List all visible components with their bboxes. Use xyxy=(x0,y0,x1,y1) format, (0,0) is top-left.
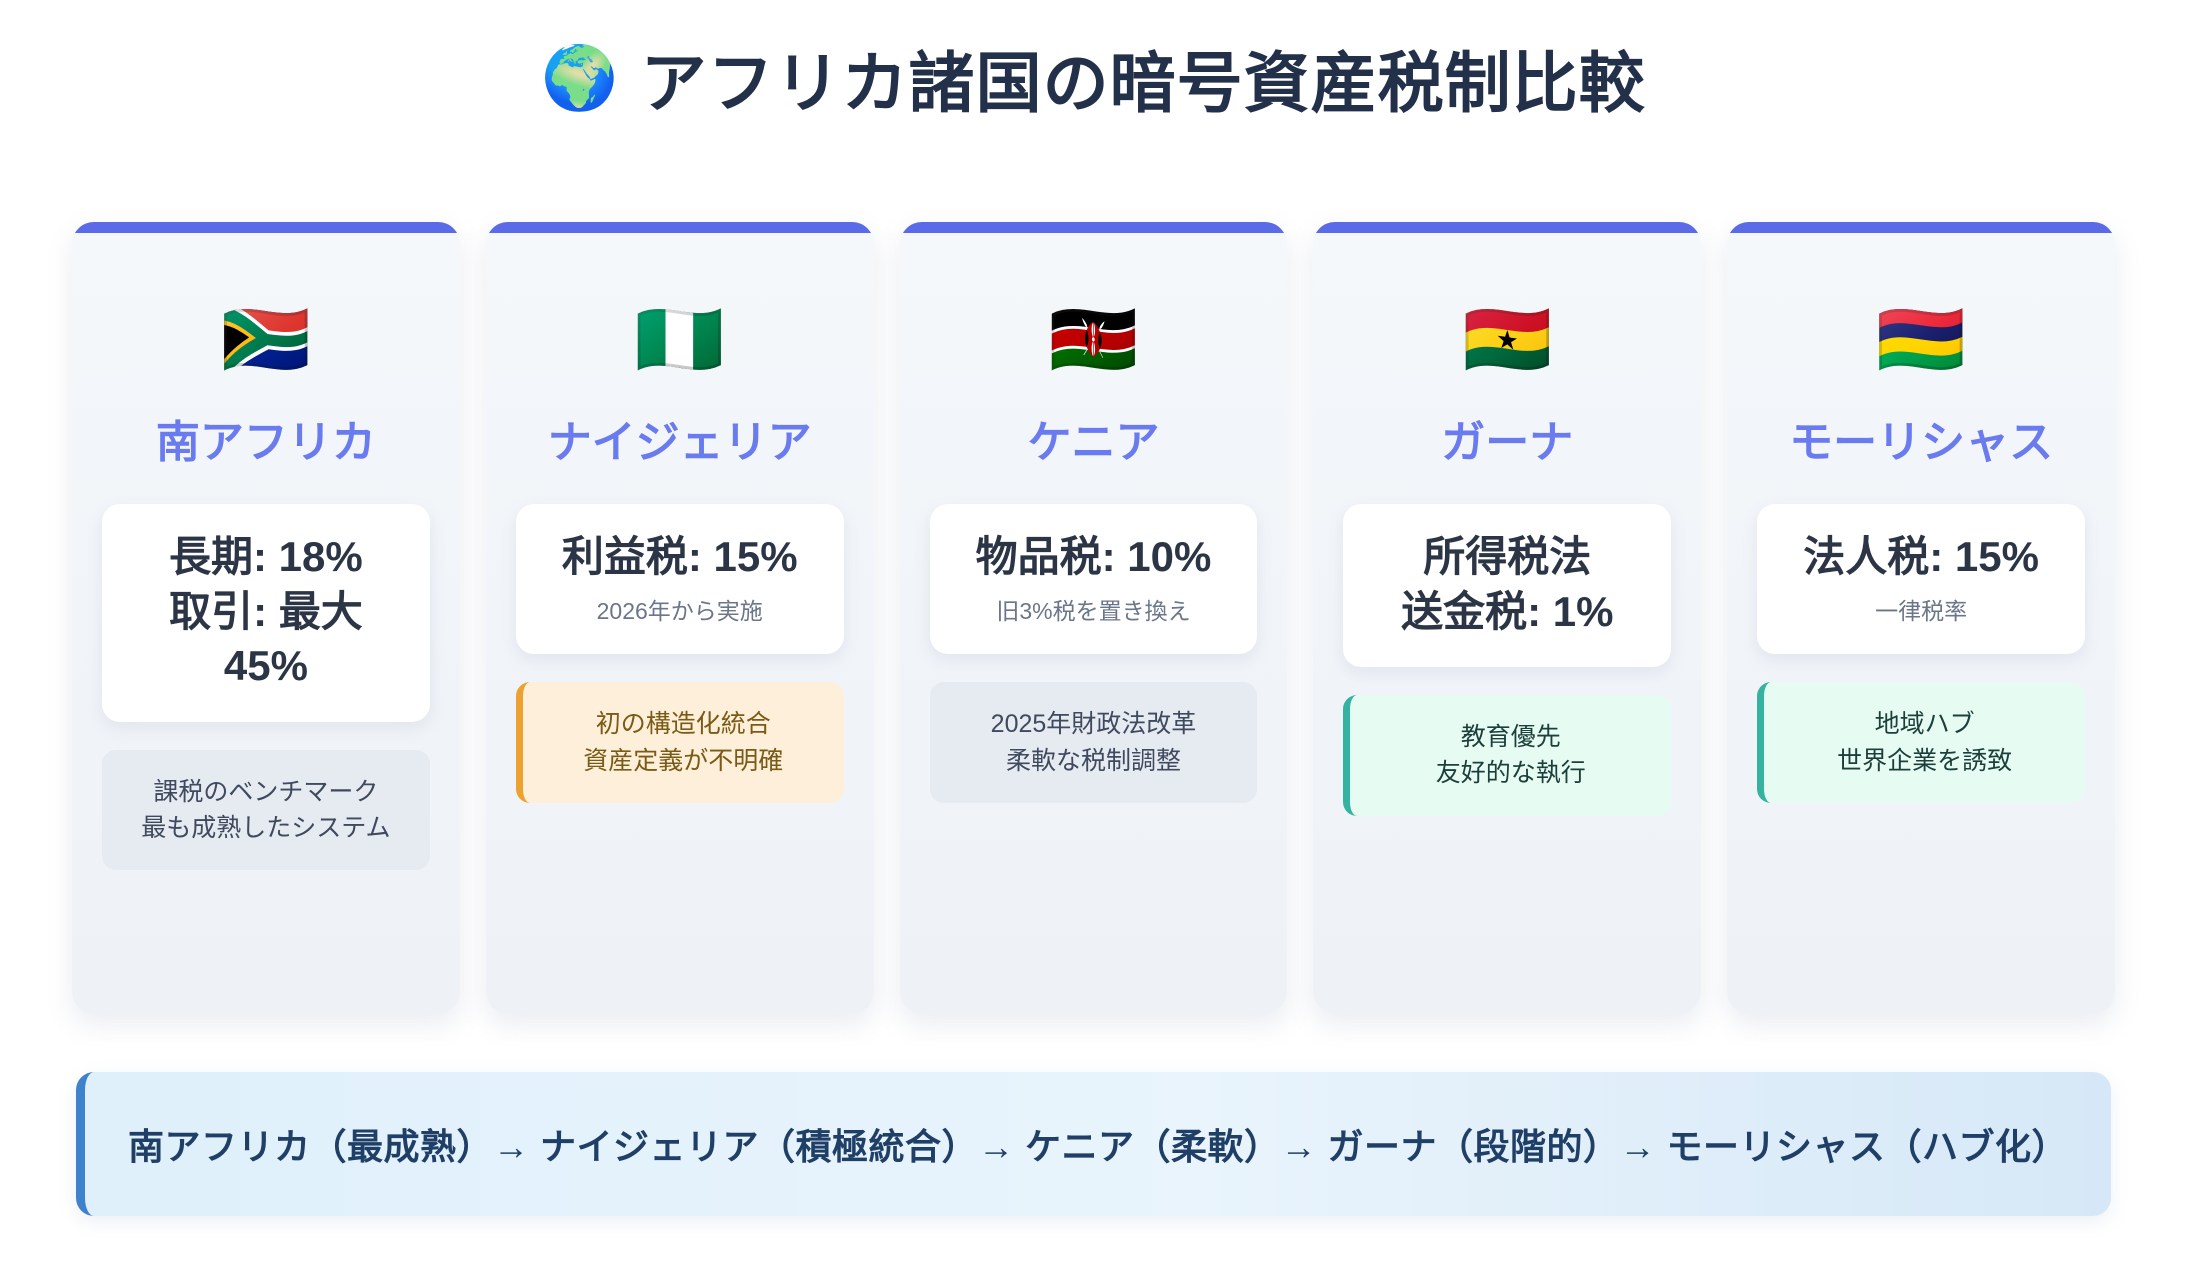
country-note: 教育優先友好的な執行 xyxy=(1343,695,1671,816)
country-name: モーリシャス xyxy=(1789,406,2053,470)
card-accent-bar xyxy=(1313,222,1701,233)
country-note-line: 最も成熟したシステム xyxy=(114,810,418,846)
country-note-line: 教育優先 xyxy=(1362,719,1659,755)
tax-rate-box: 法人税: 15%一律税率 xyxy=(1757,504,2085,654)
tax-rate-value: 所得税法送金税: 1% xyxy=(1357,530,1657,639)
globe-showing-europe-africa-icon: 🌍 xyxy=(541,47,618,109)
country-note-line: 世界企業を誘致 xyxy=(1776,743,2073,779)
progression-banner: 南アフリカ（最成熟）→ ナイジェリア（積極統合）→ ケニア（柔軟）→ ガーナ（段… xyxy=(76,1072,2111,1216)
page-header: 🌍 アフリカ諸国の暗号資産税制比較 xyxy=(0,0,2187,120)
tax-rate-subtext: 一律税率 xyxy=(1771,597,2071,627)
tax-rate-box: 所得税法送金税: 1% xyxy=(1343,504,1671,667)
country-card[interactable]: 🇰🇪ケニア物品税: 10%旧3%税を置き換え2025年財政法改革柔軟な税制調整 xyxy=(900,222,1288,1014)
country-note-line: 課税のベンチマーク xyxy=(114,774,418,810)
country-note-line: 友好的な執行 xyxy=(1362,755,1659,791)
tax-rate-box: 物品税: 10%旧3%税を置き換え xyxy=(930,504,1258,654)
tax-rate-value: 物品税: 10% xyxy=(944,530,1244,585)
progression-banner-text: 南アフリカ（最成熟）→ ナイジェリア（積極統合）→ ケニア（柔軟）→ ガーナ（段… xyxy=(128,1118,2068,1170)
country-card[interactable]: 🇿🇦南アフリカ長期: 18%取引: 最大45%課税のベンチマーク最も成熟したシス… xyxy=(72,222,460,1014)
country-note: 初の構造化統合資産定義が不明確 xyxy=(516,682,844,803)
page-title: アフリカ諸国の暗号資産税制比較 xyxy=(641,30,1646,126)
flag-mauritius-icon: 🇲🇺 xyxy=(1876,300,1966,378)
tax-rate-line: 利益税: 15% xyxy=(530,530,830,585)
card-accent-bar xyxy=(900,222,1288,233)
card-accent-bar xyxy=(1727,222,2115,233)
country-card[interactable]: 🇬🇭ガーナ所得税法送金税: 1%教育優先友好的な執行 xyxy=(1313,222,1701,1014)
country-name: ガーナ xyxy=(1441,406,1573,470)
country-note-line: 地域ハブ xyxy=(1776,706,2073,742)
country-name: ケニア xyxy=(1027,406,1159,470)
tax-rate-line: 取引: 最大 xyxy=(116,585,416,640)
tax-rate-subtext: 2026年から実施 xyxy=(530,597,830,627)
tax-rate-value: 長期: 18%取引: 最大45% xyxy=(116,530,416,694)
country-name: 南アフリカ xyxy=(156,406,376,470)
country-note: 地域ハブ世界企業を誘致 xyxy=(1757,682,2085,803)
country-note-line: 柔軟な税制調整 xyxy=(942,743,1246,779)
tax-rate-value: 利益税: 15% xyxy=(530,530,830,585)
tax-rate-box: 長期: 18%取引: 最大45% xyxy=(102,504,430,722)
tax-rate-value: 法人税: 15% xyxy=(1771,530,2071,585)
country-note: 2025年財政法改革柔軟な税制調整 xyxy=(930,682,1258,803)
card-accent-bar xyxy=(72,222,460,233)
infographic-page: 🌍 アフリカ諸国の暗号資産税制比較 🇿🇦南アフリカ長期: 18%取引: 最大45… xyxy=(0,0,2187,1269)
tax-rate-line: 法人税: 15% xyxy=(1771,530,2071,585)
country-note-line: 資産定義が不明確 xyxy=(535,743,832,779)
tax-rate-line: 物品税: 10% xyxy=(944,530,1244,585)
country-note-line: 初の構造化統合 xyxy=(535,706,832,742)
country-name: ナイジェリア xyxy=(548,406,812,470)
flag-ghana-icon: 🇬🇭 xyxy=(1462,300,1552,378)
tax-rate-line: 45% xyxy=(116,639,416,694)
country-card[interactable]: 🇳🇬ナイジェリア利益税: 15%2026年から実施初の構造化統合資産定義が不明確 xyxy=(486,222,874,1014)
tax-rate-line: 所得税法 xyxy=(1357,530,1657,585)
card-accent-bar xyxy=(486,222,874,233)
country-note-line: 2025年財政法改革 xyxy=(942,706,1246,742)
country-note: 課税のベンチマーク最も成熟したシステム xyxy=(102,750,430,871)
country-card[interactable]: 🇲🇺モーリシャス法人税: 15%一律税率地域ハブ世界企業を誘致 xyxy=(1727,222,2115,1014)
tax-rate-subtext: 旧3%税を置き換え xyxy=(944,597,1244,627)
country-card-list: 🇿🇦南アフリカ長期: 18%取引: 最大45%課税のベンチマーク最も成熟したシス… xyxy=(72,222,2115,1014)
flag-south-africa-icon: 🇿🇦 xyxy=(221,300,311,378)
tax-rate-box: 利益税: 15%2026年から実施 xyxy=(516,504,844,654)
tax-rate-line: 送金税: 1% xyxy=(1357,585,1657,640)
tax-rate-line: 長期: 18% xyxy=(116,530,416,585)
flag-nigeria-icon: 🇳🇬 xyxy=(635,300,725,378)
flag-kenya-icon: 🇰🇪 xyxy=(1049,300,1139,378)
